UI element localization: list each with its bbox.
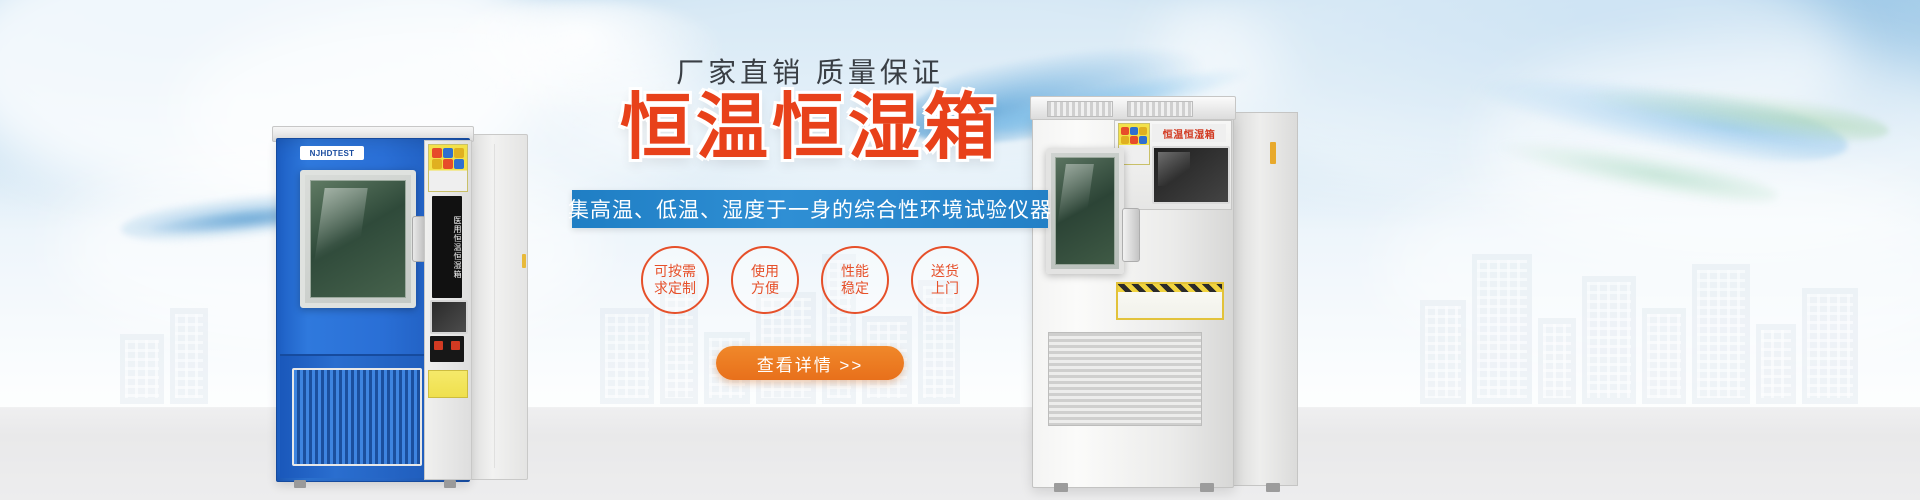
left-chamber-nameplate: 医用恒温恒湿箱 xyxy=(432,196,462,298)
left-chamber-indicator xyxy=(522,254,526,268)
right-chamber-handle xyxy=(1122,208,1140,262)
right-chamber-top xyxy=(1030,96,1236,120)
feature-badge-easy-use: 使用 方便 xyxy=(731,246,799,314)
right-chamber-nameplate: 恒温恒湿箱 xyxy=(1152,124,1226,142)
right-chamber-side-panel xyxy=(1228,112,1298,486)
right-chamber-top-vent xyxy=(1127,101,1193,117)
right-chamber-indicator xyxy=(1270,142,1276,164)
left-chamber-window xyxy=(310,180,406,298)
right-chamber-spec-label xyxy=(1116,282,1224,320)
left-chamber-foot xyxy=(444,480,456,488)
left-chamber-seam xyxy=(494,144,495,468)
view-details-button[interactable]: 查看详情 >> xyxy=(716,346,904,380)
feature-badge-line1: 使用 xyxy=(751,263,779,280)
feature-badge-line2: 上门 xyxy=(931,280,959,297)
left-chamber-warning-label xyxy=(428,144,468,192)
promo-banner: NJHDTEST 医用恒温恒湿箱 xyxy=(0,0,1920,500)
left-chamber-buttons xyxy=(430,336,464,362)
feature-badge-list: 可按需 求定制 使用 方便 性能 稳定 送货 上门 xyxy=(560,240,1060,320)
right-chamber-grille xyxy=(1048,332,1202,426)
banner-tagline: 厂家直销 质量保证 xyxy=(560,56,1060,90)
feature-badge-line2: 求定制 xyxy=(654,280,696,297)
product-image-right-chamber: 恒温恒湿箱 xyxy=(1030,96,1300,488)
left-chamber-logo: NJHDTEST xyxy=(300,146,364,160)
left-chamber-grille xyxy=(292,368,422,466)
feature-badge-stable: 性能 稳定 xyxy=(821,246,889,314)
left-chamber-display xyxy=(430,300,468,334)
right-chamber-foot xyxy=(1266,483,1280,492)
banner-headline: 恒温恒湿箱 xyxy=(560,86,1060,170)
feature-badge-line2: 稳定 xyxy=(841,280,869,297)
left-chamber-sticker xyxy=(428,370,468,398)
left-chamber-door xyxy=(300,170,416,308)
left-chamber-side-panel xyxy=(468,134,528,480)
right-chamber-window xyxy=(1055,157,1115,265)
feature-badge-delivery: 送货 上门 xyxy=(911,246,979,314)
feature-badge-custom: 可按需 求定制 xyxy=(641,246,709,314)
feature-badge-line1: 可按需 xyxy=(654,263,696,280)
banner-copy: 厂家直销 质量保证 恒温恒湿箱 集高温、低温、湿度于一身的综合性环境试验仪器 可… xyxy=(560,0,1060,500)
banner-subtitle-bar: 集高温、低温、湿度于一身的综合性环境试验仪器 xyxy=(572,190,1048,228)
feature-badge-line1: 送货 xyxy=(931,263,959,280)
feature-badge-line2: 方便 xyxy=(751,280,779,297)
right-chamber-hazard-stripe xyxy=(1118,284,1222,292)
left-chamber-foot xyxy=(294,480,306,488)
right-chamber-foot xyxy=(1200,483,1214,492)
right-chamber-display xyxy=(1152,146,1230,204)
feature-badge-line1: 性能 xyxy=(841,263,869,280)
product-image-left-chamber: NJHDTEST 医用恒温恒湿箱 xyxy=(272,104,524,482)
